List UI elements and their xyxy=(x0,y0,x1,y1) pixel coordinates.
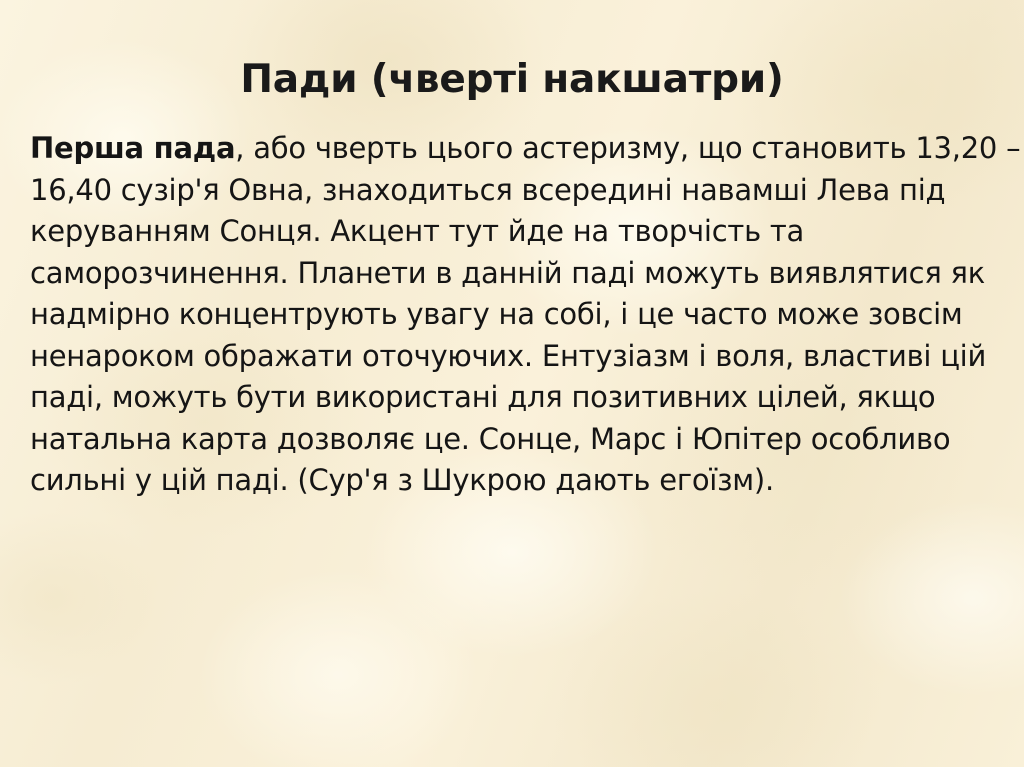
body-lead-bold: Перша пада xyxy=(30,131,235,165)
body-line-8: натальна карта дозволяє це. Сонце, Марс … xyxy=(30,419,962,461)
body-line-5: надмірно концентрують увагу на собі, і ц… xyxy=(30,294,962,336)
body-line-1: Перша пада, або чверть цього астеризму, … xyxy=(30,128,962,170)
body-line-7: паді, можуть бути використані для позити… xyxy=(30,377,962,419)
page-title: Пади (чверті накшатри) xyxy=(0,56,1024,104)
body-line-4: саморозчинення. Планети в данній паді мо… xyxy=(30,253,962,295)
slide-canvas: Пади (чверті накшатри) Перша пада, або ч… xyxy=(0,0,1024,767)
body-text-block: Перша пада, або чверть цього астеризму, … xyxy=(30,128,962,502)
body-line-6: ненароком ображати оточуючих. Ентузіазм … xyxy=(30,336,962,378)
body-line-2: 16,40 сузір'я Овна, знаходиться всередин… xyxy=(30,170,962,212)
body-line-1-rest: , або чверть цього астеризму, що станови… xyxy=(235,131,1020,165)
body-line-3: керуванням Сонця. Акцент тут йде на твор… xyxy=(30,211,962,253)
body-line-9: сильні у цій паді. (Сур'я з Шукрою дають… xyxy=(30,460,962,502)
